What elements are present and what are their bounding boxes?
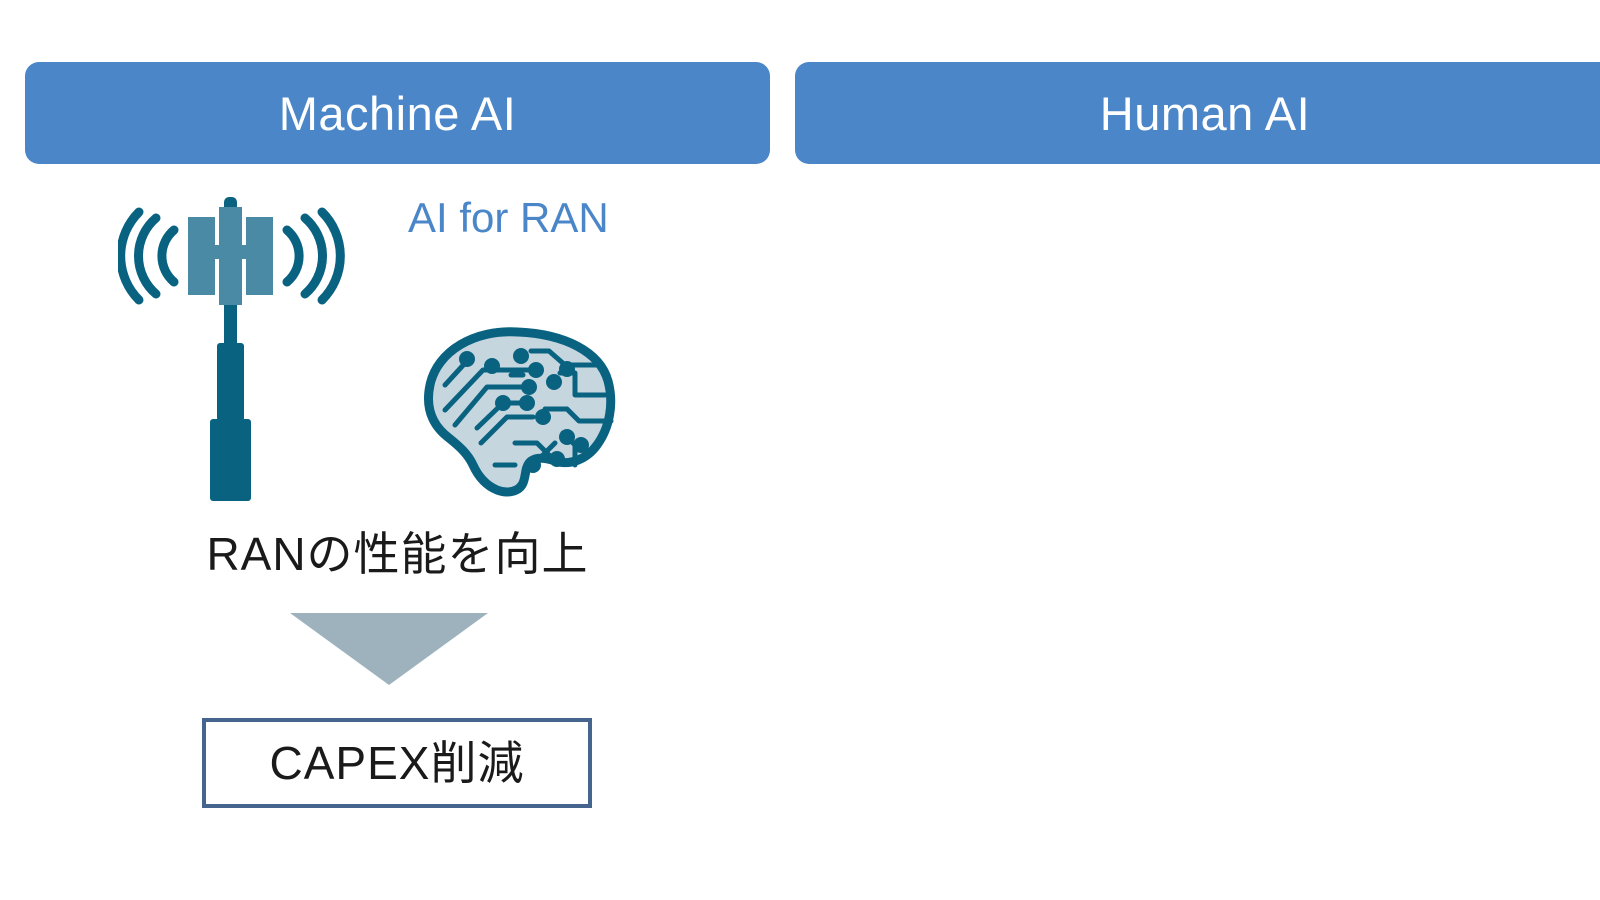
ai-brain-icon xyxy=(415,325,620,505)
result-label-capex: CAPEX削減 xyxy=(270,740,525,786)
caption-ran-performance: RANの性能を向上 xyxy=(0,527,795,582)
cell-tower-icon xyxy=(118,185,348,510)
sublabel-ai-for-ran: AI for RAN xyxy=(408,197,609,239)
down-arrow-left xyxy=(290,613,488,685)
result-box-capex: CAPEX削減 xyxy=(202,718,592,808)
column-machine-ai: AI for RAN xyxy=(0,0,795,900)
caption-operation-automation: オペレーション業務を自動化 xyxy=(1590,527,1600,582)
column-human-ai: LTM オペレーション業務を自動化 OPEX削減 xyxy=(795,0,1600,900)
